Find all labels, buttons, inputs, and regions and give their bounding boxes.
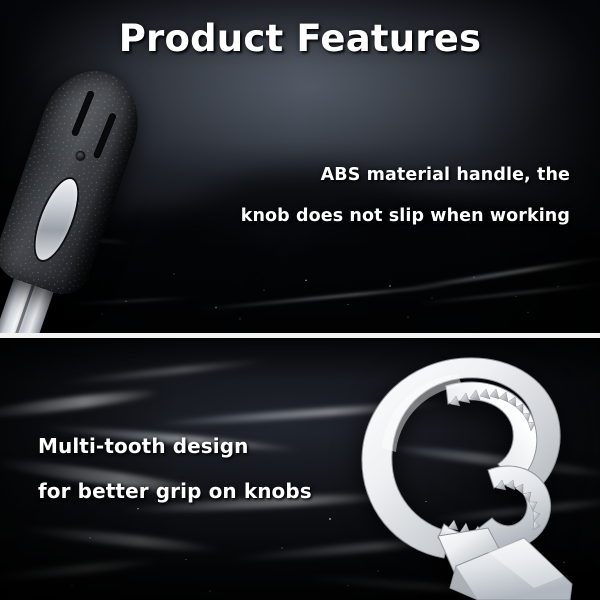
feature-caption-top: ABS material handle, the knob does not s… <box>241 155 570 237</box>
page-title: Product Features <box>0 17 600 60</box>
caption-line: for better grip on knobs <box>38 469 312 514</box>
feature-caption-bottom: Multi-tooth design for better grip on kn… <box>38 424 312 514</box>
caption-line: Multi-tooth design <box>38 424 312 469</box>
multi-tooth-wrench-image <box>338 352 600 600</box>
grip-hanging-hole <box>74 150 87 163</box>
caption-line: ABS material handle, the <box>241 155 570 196</box>
panel-divider <box>0 333 600 338</box>
grip-slot <box>71 90 95 137</box>
caption-line: knob does not slip when working <box>241 196 570 237</box>
product-feature-image: Product Features ABS material handle, th… <box>0 0 600 600</box>
